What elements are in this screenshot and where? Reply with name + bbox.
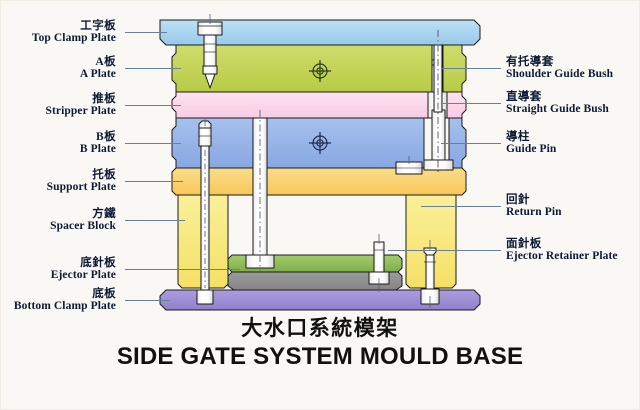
label-spacer-block-cn: 方鐵 bbox=[50, 209, 116, 221]
diagram-title-en: SIDE GATE SYSTEM MOULD BASE bbox=[0, 343, 640, 372]
leader-a-plate bbox=[125, 68, 181, 69]
label-ejector-plate: 底針板 Ejector Plate bbox=[51, 258, 116, 281]
label-straight-guide-bush-en: Straight Guide Bush bbox=[506, 104, 609, 116]
label-a-plate-en: A Plate bbox=[80, 69, 116, 81]
leader-bottom-clamp-plate bbox=[125, 300, 170, 301]
label-straight-guide-bush: 直導套 Straight Guide Bush bbox=[506, 92, 609, 115]
leader-shoulder-guide-bush bbox=[441, 68, 501, 69]
mould-base-diagram: 工字板 Top Clamp Plate A板 A Plate 推板 Stripp… bbox=[0, 0, 640, 410]
label-return-pin-cn: 回針 bbox=[506, 195, 562, 207]
label-a-plate-cn: A板 bbox=[80, 57, 116, 69]
leader-return-pin bbox=[421, 206, 501, 207]
leader-ejector-plate bbox=[125, 269, 240, 270]
label-top-clamp-plate: 工字板 Top Clamp Plate bbox=[32, 21, 116, 44]
label-ejector-plate-en: Ejector Plate bbox=[51, 270, 116, 282]
label-top-clamp-plate-en: Top Clamp Plate bbox=[32, 33, 116, 45]
label-shoulder-guide-bush: 有托導套 Shoulder Guide Bush bbox=[506, 57, 613, 80]
label-top-clamp-plate-cn: 工字板 bbox=[32, 21, 116, 33]
label-guide-pin-cn: 導柱 bbox=[506, 132, 556, 144]
label-b-plate: B板 B Plate bbox=[80, 132, 116, 155]
leader-straight-guide-bush bbox=[441, 103, 501, 104]
label-support-plate-en: Support Plate bbox=[47, 182, 116, 194]
label-a-plate: A板 A Plate bbox=[80, 57, 116, 80]
leader-support-plate bbox=[125, 181, 183, 182]
diagram-title-cn: 大水口系統模架 bbox=[0, 316, 640, 341]
label-bottom-clamp-plate-en: Bottom Clamp Plate bbox=[14, 301, 116, 313]
label-return-pin-en: Return Pin bbox=[506, 207, 562, 219]
leader-spacer-block bbox=[125, 220, 185, 221]
label-spacer-block-en: Spacer Block bbox=[50, 221, 116, 233]
label-guide-pin-en: Guide Pin bbox=[506, 144, 556, 156]
label-stripper-plate-cn: 推板 bbox=[46, 94, 117, 106]
label-shoulder-guide-bush-en: Shoulder Guide Bush bbox=[506, 69, 613, 81]
label-bottom-clamp-plate-cn: 底板 bbox=[14, 289, 116, 301]
diagram-title: 大水口系統模架 SIDE GATE SYSTEM MOULD BASE bbox=[0, 316, 640, 372]
label-stripper-plate-en: Stripper Plate bbox=[46, 106, 117, 118]
leader-guide-pin bbox=[441, 143, 501, 144]
leader-stripper-plate bbox=[125, 105, 181, 106]
label-b-plate-cn: B板 bbox=[80, 132, 116, 144]
label-support-plate: 托板 Support Plate bbox=[47, 170, 116, 193]
leader-ejector-retainer-plate bbox=[388, 250, 501, 251]
label-support-plate-cn: 托板 bbox=[47, 170, 116, 182]
plate-stripper bbox=[172, 92, 428, 118]
label-spacer-block: 方鐵 Spacer Block bbox=[50, 209, 116, 232]
label-return-pin: 回針 Return Pin bbox=[506, 195, 562, 218]
label-ejector-plate-cn: 底針板 bbox=[51, 258, 116, 270]
label-b-plate-en: B Plate bbox=[80, 144, 116, 156]
leader-b-plate bbox=[125, 143, 181, 144]
label-ejector-retainer-plate: 面針板 Ejector Retainer Plate bbox=[506, 239, 618, 262]
label-straight-guide-bush-cn: 直導套 bbox=[506, 92, 609, 104]
label-ejector-retainer-plate-en: Ejector Retainer Plate bbox=[506, 251, 618, 263]
plate-stripper-right-ear bbox=[447, 92, 466, 118]
label-bottom-clamp-plate: 底板 Bottom Clamp Plate bbox=[14, 289, 116, 312]
leader-top-clamp-plate bbox=[125, 32, 167, 33]
label-ejector-retainer-plate-cn: 面針板 bbox=[506, 239, 618, 251]
label-stripper-plate: 推板 Stripper Plate bbox=[46, 94, 117, 117]
label-guide-pin: 導柱 Guide Pin bbox=[506, 132, 556, 155]
label-shoulder-guide-bush-cn: 有托導套 bbox=[506, 57, 613, 69]
